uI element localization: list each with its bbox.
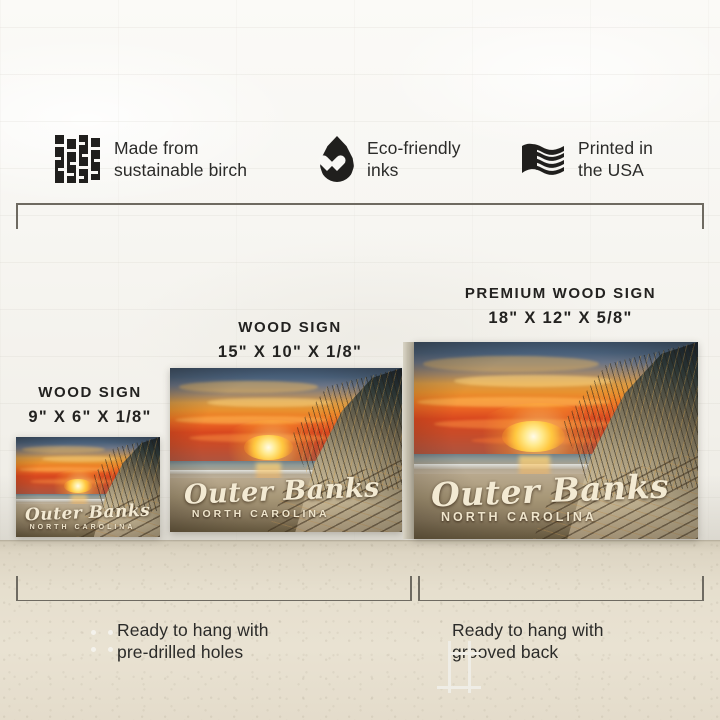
ink-drop-heart-icon <box>320 136 354 182</box>
hanging-grooved-back: Ready to hang with grooved back <box>437 619 604 663</box>
top-bracket-divider <box>16 203 704 229</box>
size-caption-small: WOOD SIGN 9" X 6" X 1/8" <box>10 384 170 427</box>
product-size-infographic: Made from sustainable birch Eco-friendly… <box>0 0 720 720</box>
feature-printed-in-usa: Printed in the USA <box>521 137 653 181</box>
size-name: PREMIUM WOOD SIGN <box>453 285 668 302</box>
sign-title-block: Outer Banks NORTH CAROLINA <box>184 478 380 520</box>
feature-label: Printed in the USA <box>578 137 653 181</box>
sign-artwork-face: Outer Banks NORTH CAROLINA <box>170 368 402 532</box>
size-name: WOOD SIGN <box>190 319 390 336</box>
sign-title: Outer Banks <box>430 469 669 511</box>
sign-artwork-face: Outer Banks NORTH CAROLINA <box>16 437 160 537</box>
sign-artwork-face: Outer Banks NORTH CAROLINA <box>414 342 698 539</box>
size-dimensions: 15" X 10" X 1/8" <box>190 343 390 362</box>
size-caption-medium: WOOD SIGN 15" X 10" X 1/8" <box>190 319 390 362</box>
size-name: WOOD SIGN <box>10 384 170 401</box>
feature-sustainable-birch: Made from sustainable birch <box>55 135 247 183</box>
size-caption-premium: PREMIUM WOOD SIGN 18" X 12" X 5/8" <box>453 285 668 328</box>
feature-label: Made from sustainable birch <box>114 137 247 181</box>
sign-subtitle: NORTH CAROLINA <box>30 524 150 531</box>
usa-flag-icon <box>521 142 565 176</box>
birch-bark-icon <box>55 135 101 183</box>
feature-label: Eco-friendly inks <box>367 137 461 181</box>
bottom-bracket-right <box>418 576 704 601</box>
wood-sign-premium[interactable]: Outer Banks NORTH CAROLINA <box>414 342 698 539</box>
feature-row: Made from sustainable birch Eco-friendly… <box>0 126 720 192</box>
sign-title: Outer Banks <box>24 503 150 525</box>
sign-title-block: Outer Banks NORTH CAROLINA <box>431 474 669 524</box>
floor-seam-line <box>0 540 720 542</box>
hanging-label: Ready to hang with pre-drilled holes <box>117 619 269 663</box>
bottom-bracket-left <box>16 576 412 601</box>
sign-subtitle: NORTH CAROLINA <box>192 508 380 520</box>
size-dimensions: 18" X 12" X 5/8" <box>453 309 668 328</box>
wood-sign-small[interactable]: Outer Banks NORTH CAROLINA <box>16 437 160 537</box>
sign-side-edge <box>403 342 414 539</box>
hanging-pre-drilled-holes: Ready to hang with pre-drilled holes <box>102 619 269 663</box>
sign-title-block: Outer Banks NORTH CAROLINA <box>25 505 150 531</box>
feature-eco-friendly-inks: Eco-friendly inks <box>320 136 461 182</box>
wood-sign-medium[interactable]: Outer Banks NORTH CAROLINA <box>170 368 402 532</box>
sign-title: Outer Banks <box>183 474 380 508</box>
hanging-label: Ready to hang with grooved back <box>452 619 604 663</box>
size-dimensions: 9" X 6" X 1/8" <box>10 408 170 427</box>
